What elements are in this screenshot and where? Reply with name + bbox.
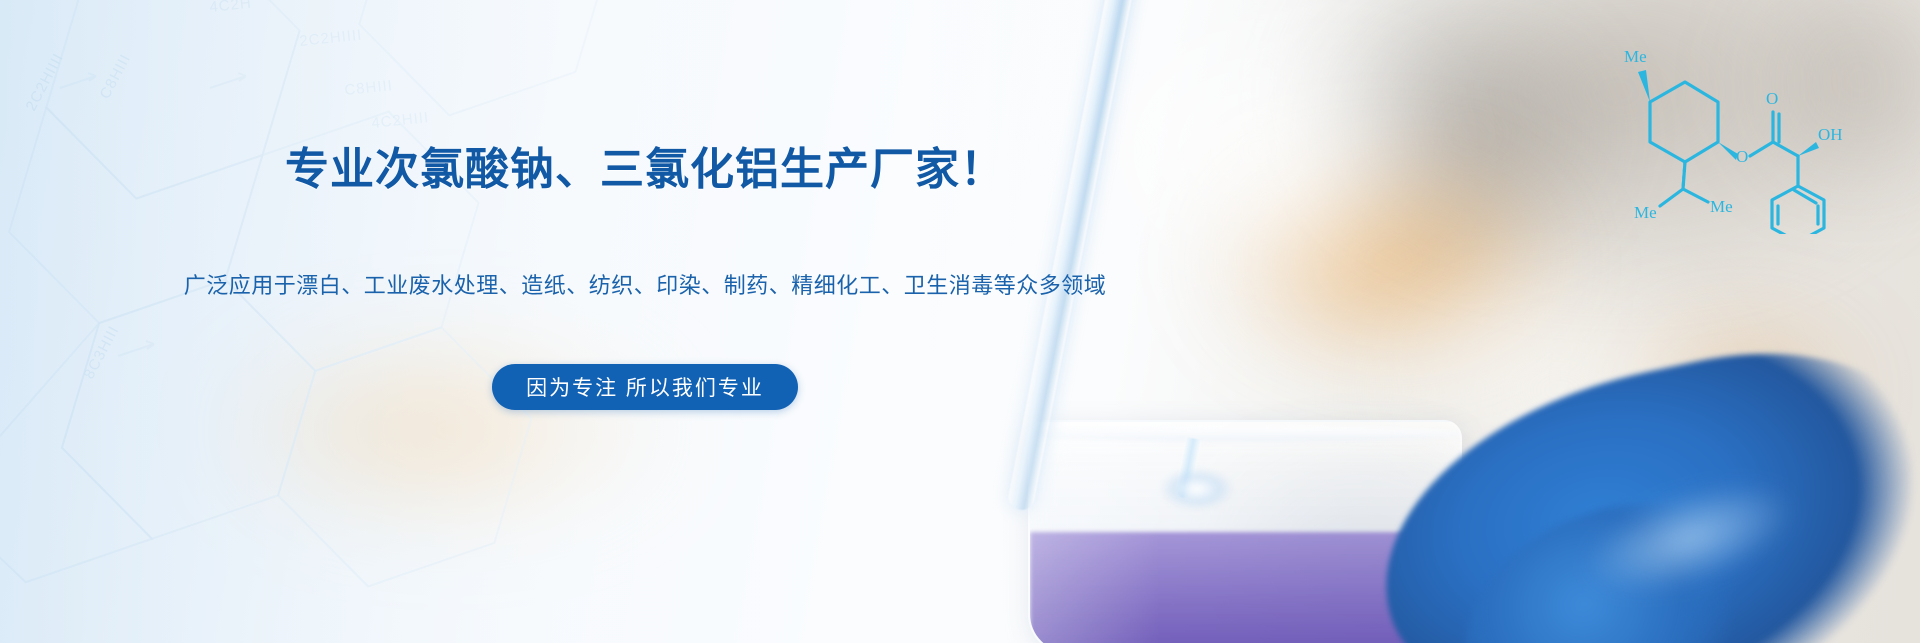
hero-banner: 2C2HIIII C8HIII 2C2HIIII C8HIII 4C2HIII … bbox=[0, 0, 1920, 643]
svg-text:Me: Me bbox=[1710, 197, 1733, 216]
molecule-labels: Me Me Me O O OH bbox=[1624, 47, 1843, 222]
svg-text:O: O bbox=[1736, 147, 1748, 166]
svg-text:Me: Me bbox=[1634, 203, 1657, 222]
svg-text:OH: OH bbox=[1818, 125, 1843, 144]
page-title: 专业次氯酸钠、三氯化铝生产厂家！ bbox=[285, 133, 1005, 197]
cta-button[interactable]: 因为专注 所以我们专业 bbox=[492, 364, 798, 410]
hero-copy-block: 专业次氯酸钠、三氯化铝生产厂家！ 广泛应用于漂白、工业废水处理、造纸、纺织、印染… bbox=[0, 0, 1290, 643]
svg-text:O: O bbox=[1766, 89, 1778, 108]
molecule-diagram: Me Me Me O O OH bbox=[1590, 34, 1890, 234]
page-subtitle: 广泛应用于漂白、工业废水处理、造纸、纺织、印染、制药、精细化工、卫生消毒等众多领… bbox=[184, 268, 1107, 300]
svg-text:Me: Me bbox=[1624, 47, 1647, 66]
